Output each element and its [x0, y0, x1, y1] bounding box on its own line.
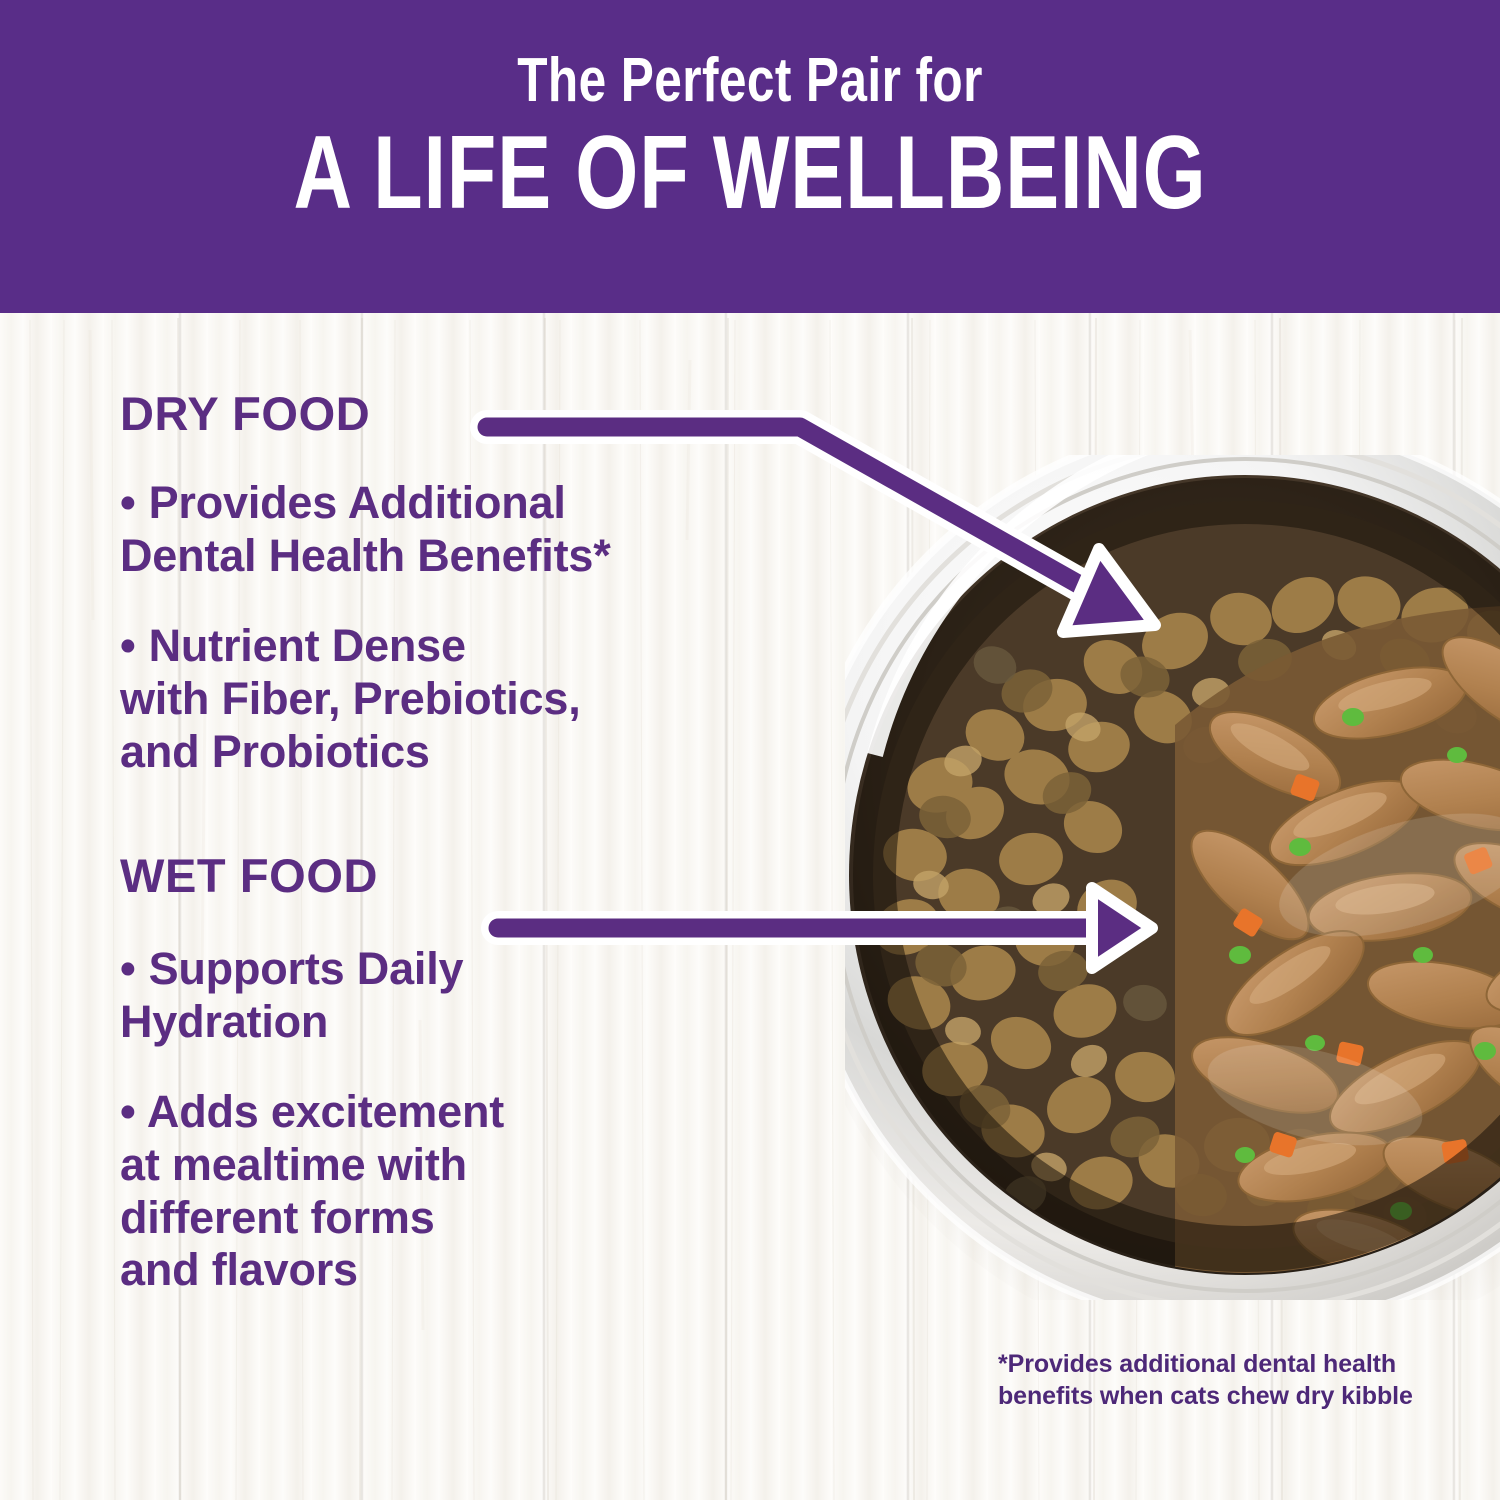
- bullet-dry-1-line2: Dental Health Benefits*: [120, 530, 611, 581]
- bullet-dot-icon: •: [120, 620, 136, 671]
- bullet-wet-2-line3: different forms: [120, 1192, 435, 1243]
- footnote-text: *Provides additional dental health benef…: [998, 1348, 1418, 1412]
- pet-food-bowl-photo: [845, 455, 1500, 1300]
- bowl-illustration: [845, 455, 1500, 1300]
- bullet-wet-1: • Supports Daily Hydration: [120, 943, 820, 1048]
- bullet-dot-icon: •: [120, 943, 136, 994]
- bullet-dot-icon: •: [120, 477, 136, 528]
- promo-image-root: The Perfect Pair for A LIFE OF WELLBEING: [0, 0, 1500, 1500]
- footnote-line-1: *Provides additional dental health: [998, 1348, 1418, 1380]
- bullet-wet-2-line2: at mealtime with: [120, 1139, 467, 1190]
- bullet-wet-2: • Adds excitement at mealtime with diffe…: [120, 1086, 820, 1297]
- bullet-dry-2-line1: Nutrient Dense: [149, 620, 466, 671]
- bullet-wet-2-line4: and flavors: [120, 1244, 358, 1295]
- bullet-dry-2-line3: and Probiotics: [120, 726, 430, 777]
- bullet-dot-icon: •: [120, 1086, 136, 1137]
- bullet-dry-2: • Nutrient Dense with Fiber, Prebiotics,…: [120, 620, 820, 778]
- bullet-dry-2-line2: with Fiber, Prebiotics,: [120, 673, 581, 724]
- benefits-copy-column: DRY FOOD • Provides Additional Dental He…: [120, 390, 820, 1297]
- bullet-dry-1: • Provides Additional Dental Health Bene…: [120, 477, 820, 582]
- footnote-line-2: benefits when cats chew dry kibble: [998, 1380, 1418, 1412]
- bullet-wet-1-line1: Supports Daily: [149, 943, 464, 994]
- header-subtitle: The Perfect Pair for: [150, 0, 1350, 113]
- section-heading-dry-food: DRY FOOD: [120, 390, 820, 437]
- section-heading-wet-food: WET FOOD: [120, 852, 820, 899]
- bullet-wet-1-line2: Hydration: [120, 996, 328, 1047]
- header-banner: The Perfect Pair for A LIFE OF WELLBEING: [0, 0, 1500, 313]
- bullet-dry-1-line1: Provides Additional: [149, 477, 566, 528]
- header-text-block: The Perfect Pair for A LIFE OF WELLBEING: [0, 0, 1500, 225]
- header-title: A LIFE OF WELLBEING: [165, 113, 1335, 225]
- bullet-wet-2-line1: Adds excitement: [147, 1086, 504, 1137]
